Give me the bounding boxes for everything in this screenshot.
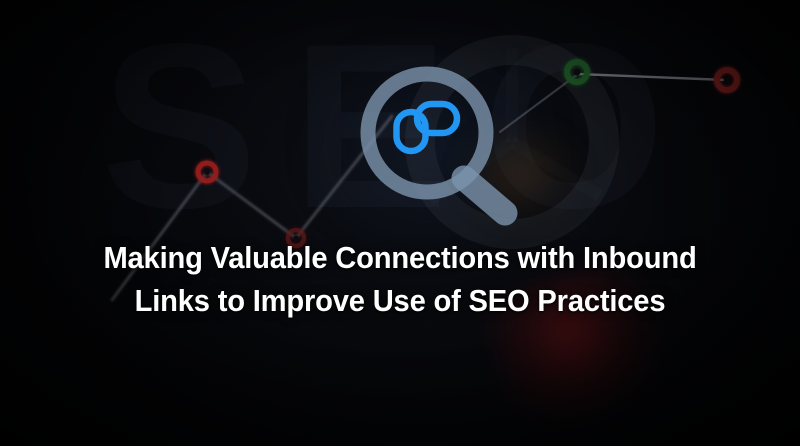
network-graph: [500, 62, 737, 132]
node-green: [567, 62, 587, 82]
background-graphics-layer: [0, 0, 800, 446]
headline-block: Making Valuable Connections with Inbound…: [0, 236, 800, 322]
headline-line-2: Links to Improve Use of SEO Practices: [50, 279, 749, 322]
headline-line-1: Making Valuable Connections with Inbound: [50, 236, 749, 279]
node-red: [717, 70, 737, 90]
seo-banner: SEO: [0, 0, 800, 446]
